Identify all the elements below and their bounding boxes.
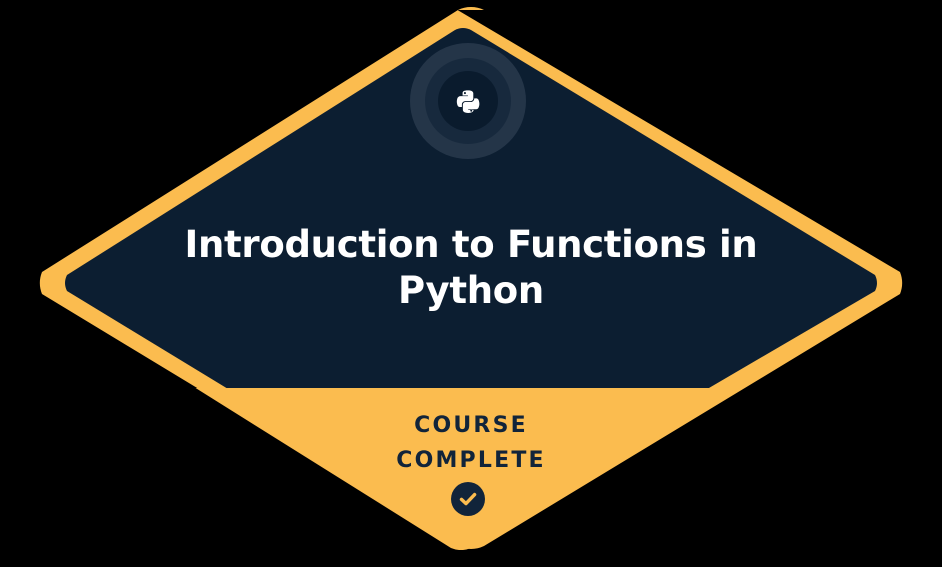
course-completion-badge[interactable]: Introduction to Functions in Python COUR… — [0, 0, 942, 567]
status-line-complete: COMPLETE — [271, 443, 671, 478]
status-line-course: COURSE — [271, 408, 671, 443]
status-badge: COURSE COMPLETE — [271, 408, 671, 478]
check-circle-icon — [451, 482, 485, 516]
course-title-line-1: Introduction to Functions in — [185, 223, 758, 266]
course-title: Introduction to Functions in Python — [171, 222, 771, 314]
course-title-line-2: Python — [398, 269, 544, 312]
